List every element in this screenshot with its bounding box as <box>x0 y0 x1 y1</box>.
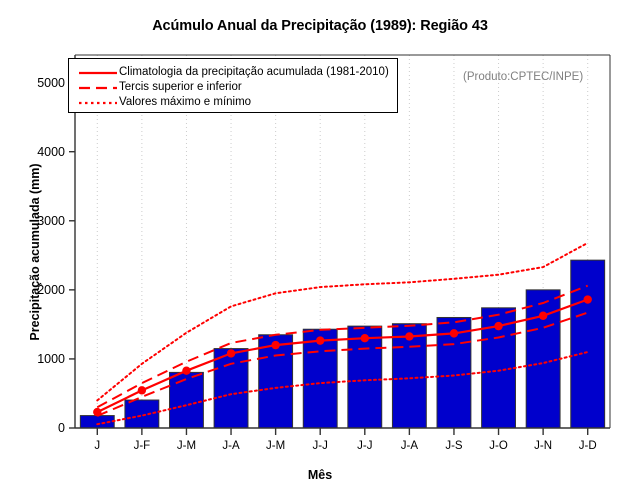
y-tick-label: 0 <box>19 421 65 435</box>
legend-line-swatch-dotted <box>77 96 119 108</box>
y-tick-label: 3000 <box>19 214 65 228</box>
legend-label: Climatologia da precipitação acumulada (… <box>119 66 389 78</box>
legend-line-swatch-solid <box>77 66 119 78</box>
x-tick-label: J-M <box>266 440 285 452</box>
legend-line-swatch-dashed <box>77 81 119 93</box>
x-tick-label: J-A <box>401 440 418 452</box>
x-tick-label: J-D <box>579 440 597 452</box>
climatology-point <box>494 322 502 330</box>
climatology-point <box>93 408 101 416</box>
y-tick-label: 4000 <box>19 145 65 159</box>
bar <box>170 372 204 428</box>
x-tick-label: J-M <box>177 440 196 452</box>
climatology-point <box>361 334 369 342</box>
climatology-point <box>584 295 592 303</box>
climatology-point <box>227 349 235 357</box>
legend-label: Valores máximo e mínimo <box>119 96 251 108</box>
climatology-point <box>539 312 547 320</box>
legend-item: Tercis superior e inferior <box>69 79 397 94</box>
legend-item: Climatologia da precipitação acumulada (… <box>69 64 397 79</box>
bar <box>125 400 159 428</box>
climatology-point <box>271 341 279 349</box>
x-tick-label: J <box>94 440 100 452</box>
x-tick-label: J-S <box>445 440 462 452</box>
chart-legend: Climatologia da precipitação acumulada (… <box>68 58 398 113</box>
climatology-point <box>450 329 458 337</box>
x-tick-label: J-O <box>489 440 508 452</box>
climatology-point <box>182 366 190 374</box>
x-tick-label: J-F <box>134 440 151 452</box>
climatology-point <box>405 332 413 340</box>
y-tick-label: 2000 <box>19 283 65 297</box>
legend-label: Tercis superior e inferior <box>119 81 242 93</box>
precipitation-chart: Acúmulo Anual da Precipitação (1989): Re… <box>0 0 640 500</box>
x-tick-label: J-N <box>534 440 552 452</box>
x-tick-label: J-J <box>357 440 372 452</box>
y-tick-label: 1000 <box>19 352 65 366</box>
climatology-point <box>138 386 146 394</box>
y-tick-label: 5000 <box>19 76 65 90</box>
bar <box>571 260 605 428</box>
x-tick-label: J-A <box>222 440 239 452</box>
legend-item: Valores máximo e mínimo <box>69 94 397 109</box>
x-tick-label: J-J <box>313 440 328 452</box>
climatology-point <box>316 336 324 344</box>
bar <box>214 349 248 428</box>
producer-annotation: (Produto:CPTEC/INPE) <box>463 71 583 83</box>
